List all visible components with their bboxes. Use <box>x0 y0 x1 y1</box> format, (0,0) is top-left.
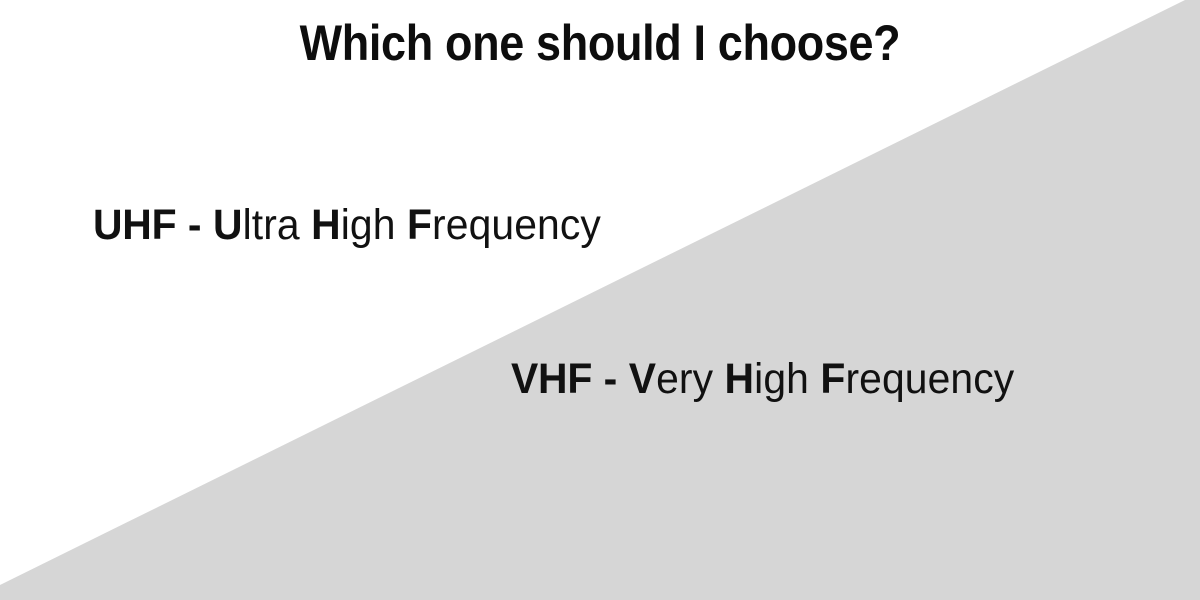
option-vhf: VHF - Very High Frequency <box>511 356 1014 402</box>
option-uhf-word-1-initial: H <box>311 201 341 249</box>
option-vhf-word-2-rest: requency <box>845 355 1014 403</box>
slide-canvas: Which one should I choose? UHF - Ultra H… <box>0 0 1200 600</box>
option-vhf-acronym: VHF <box>511 355 592 403</box>
option-vhf-word-1-initial: H <box>725 355 755 403</box>
option-uhf-word-1-rest: igh <box>341 201 396 249</box>
page-title: Which one should I choose? <box>60 14 1140 72</box>
diagonal-gray-wedge <box>0 0 1200 600</box>
option-uhf: UHF - Ultra High Frequency <box>93 202 601 248</box>
option-uhf-word-0-rest: ltra <box>243 201 300 249</box>
option-vhf-word-1-rest: igh <box>754 355 809 403</box>
option-uhf-separator: - <box>188 201 202 249</box>
option-uhf-word-2-rest: requency <box>432 201 601 249</box>
option-vhf-word-0-rest: ery <box>656 355 713 403</box>
option-vhf-word-0-initial: V <box>629 355 656 403</box>
option-uhf-word-2-initial: F <box>407 201 432 249</box>
option-uhf-acronym: UHF <box>93 201 176 249</box>
option-vhf-separator: - <box>604 355 618 403</box>
option-vhf-word-2-initial: F <box>820 355 845 403</box>
option-uhf-word-0-initial: U <box>213 201 243 249</box>
